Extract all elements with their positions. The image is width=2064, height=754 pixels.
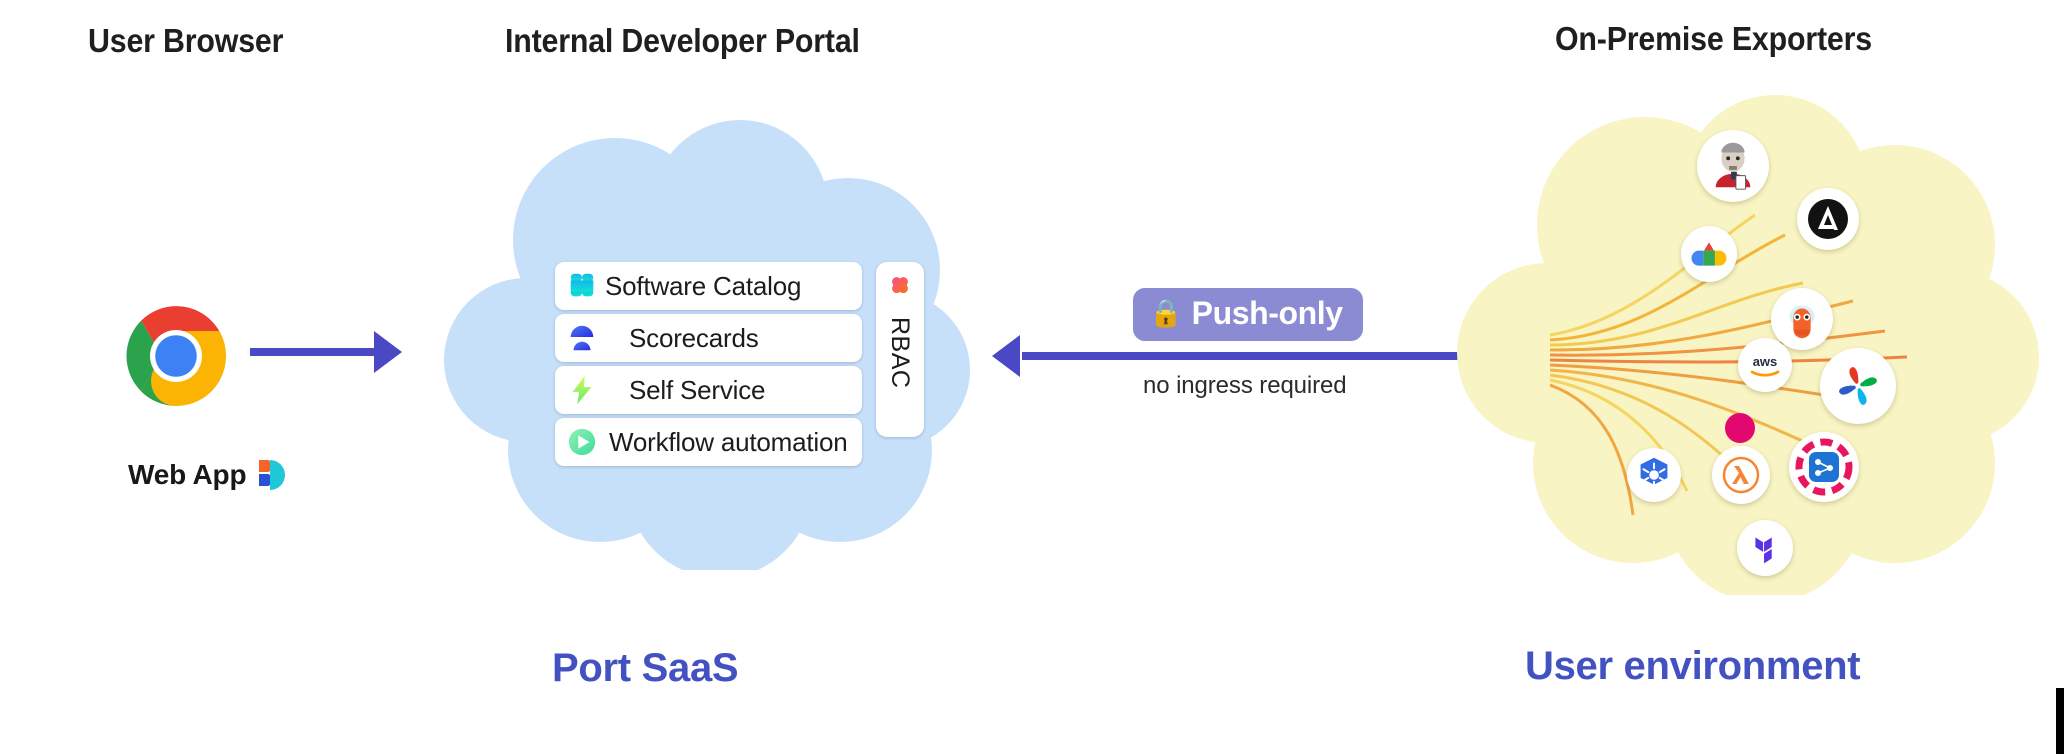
heading-internal-developer-portal: Internal Developer Portal xyxy=(505,22,860,60)
scorecards-icon xyxy=(565,321,599,355)
card-label: Scorecards xyxy=(629,323,759,354)
card-workflow-automation[interactable]: Workflow automation xyxy=(555,418,862,466)
web-app-label-row: Web App xyxy=(128,458,286,492)
google-cloud-icon xyxy=(1681,226,1737,282)
card-scorecards[interactable]: Scorecards xyxy=(555,314,862,362)
right-edge-sliver xyxy=(2056,688,2064,754)
portal-feature-stack: Software Catalog Scorecards xyxy=(555,262,924,466)
heading-on-premise-exporters: On-Premise Exporters xyxy=(1555,20,1872,58)
card-label: Software Catalog xyxy=(605,271,801,302)
terraform-icon xyxy=(1737,520,1793,576)
kubernetes-icon xyxy=(1627,448,1681,502)
ansible-icon xyxy=(1797,188,1859,250)
software-catalog-icon xyxy=(565,269,599,303)
portal-feature-cards: Software Catalog Scorecards xyxy=(555,262,862,466)
workflow-play-icon xyxy=(565,425,599,459)
arrow-exporters-to-portal-head xyxy=(992,335,1020,377)
no-ingress-note: no ingress required xyxy=(1143,372,1347,400)
port-logo-icon xyxy=(256,458,286,492)
push-only-label: Push-only xyxy=(1192,295,1343,332)
label-user-environment: User environment xyxy=(1525,644,1860,689)
svg-text:aws: aws xyxy=(1753,354,1778,369)
jenkins-icon xyxy=(1697,130,1769,202)
lock-icon: 🔒 xyxy=(1149,300,1183,327)
chrome-icon xyxy=(124,304,228,408)
arrow-browser-to-portal xyxy=(250,348,385,356)
rbac-label: RBAC xyxy=(885,317,914,388)
aws-icon: aws xyxy=(1738,338,1792,392)
airflow-icon xyxy=(1820,348,1896,424)
card-label: Workflow automation xyxy=(609,427,848,458)
argo-node-icon xyxy=(1722,410,1758,446)
label-port-saas: Port SaaS xyxy=(552,646,738,691)
card-software-catalog[interactable]: Software Catalog xyxy=(555,262,862,310)
rbac-icon xyxy=(884,271,916,308)
web-app-label: Web App xyxy=(128,459,246,491)
diagram-canvas: User Browser Internal Developer Portal O… xyxy=(0,0,2064,754)
card-self-service[interactable]: Self Service xyxy=(555,366,862,414)
push-only-badge: 🔒 Push-only xyxy=(1133,288,1363,341)
aws-lambda-icon xyxy=(1712,446,1770,504)
argo-cd-icon xyxy=(1789,432,1859,502)
heading-user-browser: User Browser xyxy=(88,22,283,60)
card-rbac[interactable]: RBAC xyxy=(876,262,924,437)
arrow-browser-to-portal-head xyxy=(374,331,402,373)
card-label: Self Service xyxy=(629,375,765,406)
gitlab-icon xyxy=(1771,288,1833,350)
self-service-bolt-icon xyxy=(565,373,599,407)
